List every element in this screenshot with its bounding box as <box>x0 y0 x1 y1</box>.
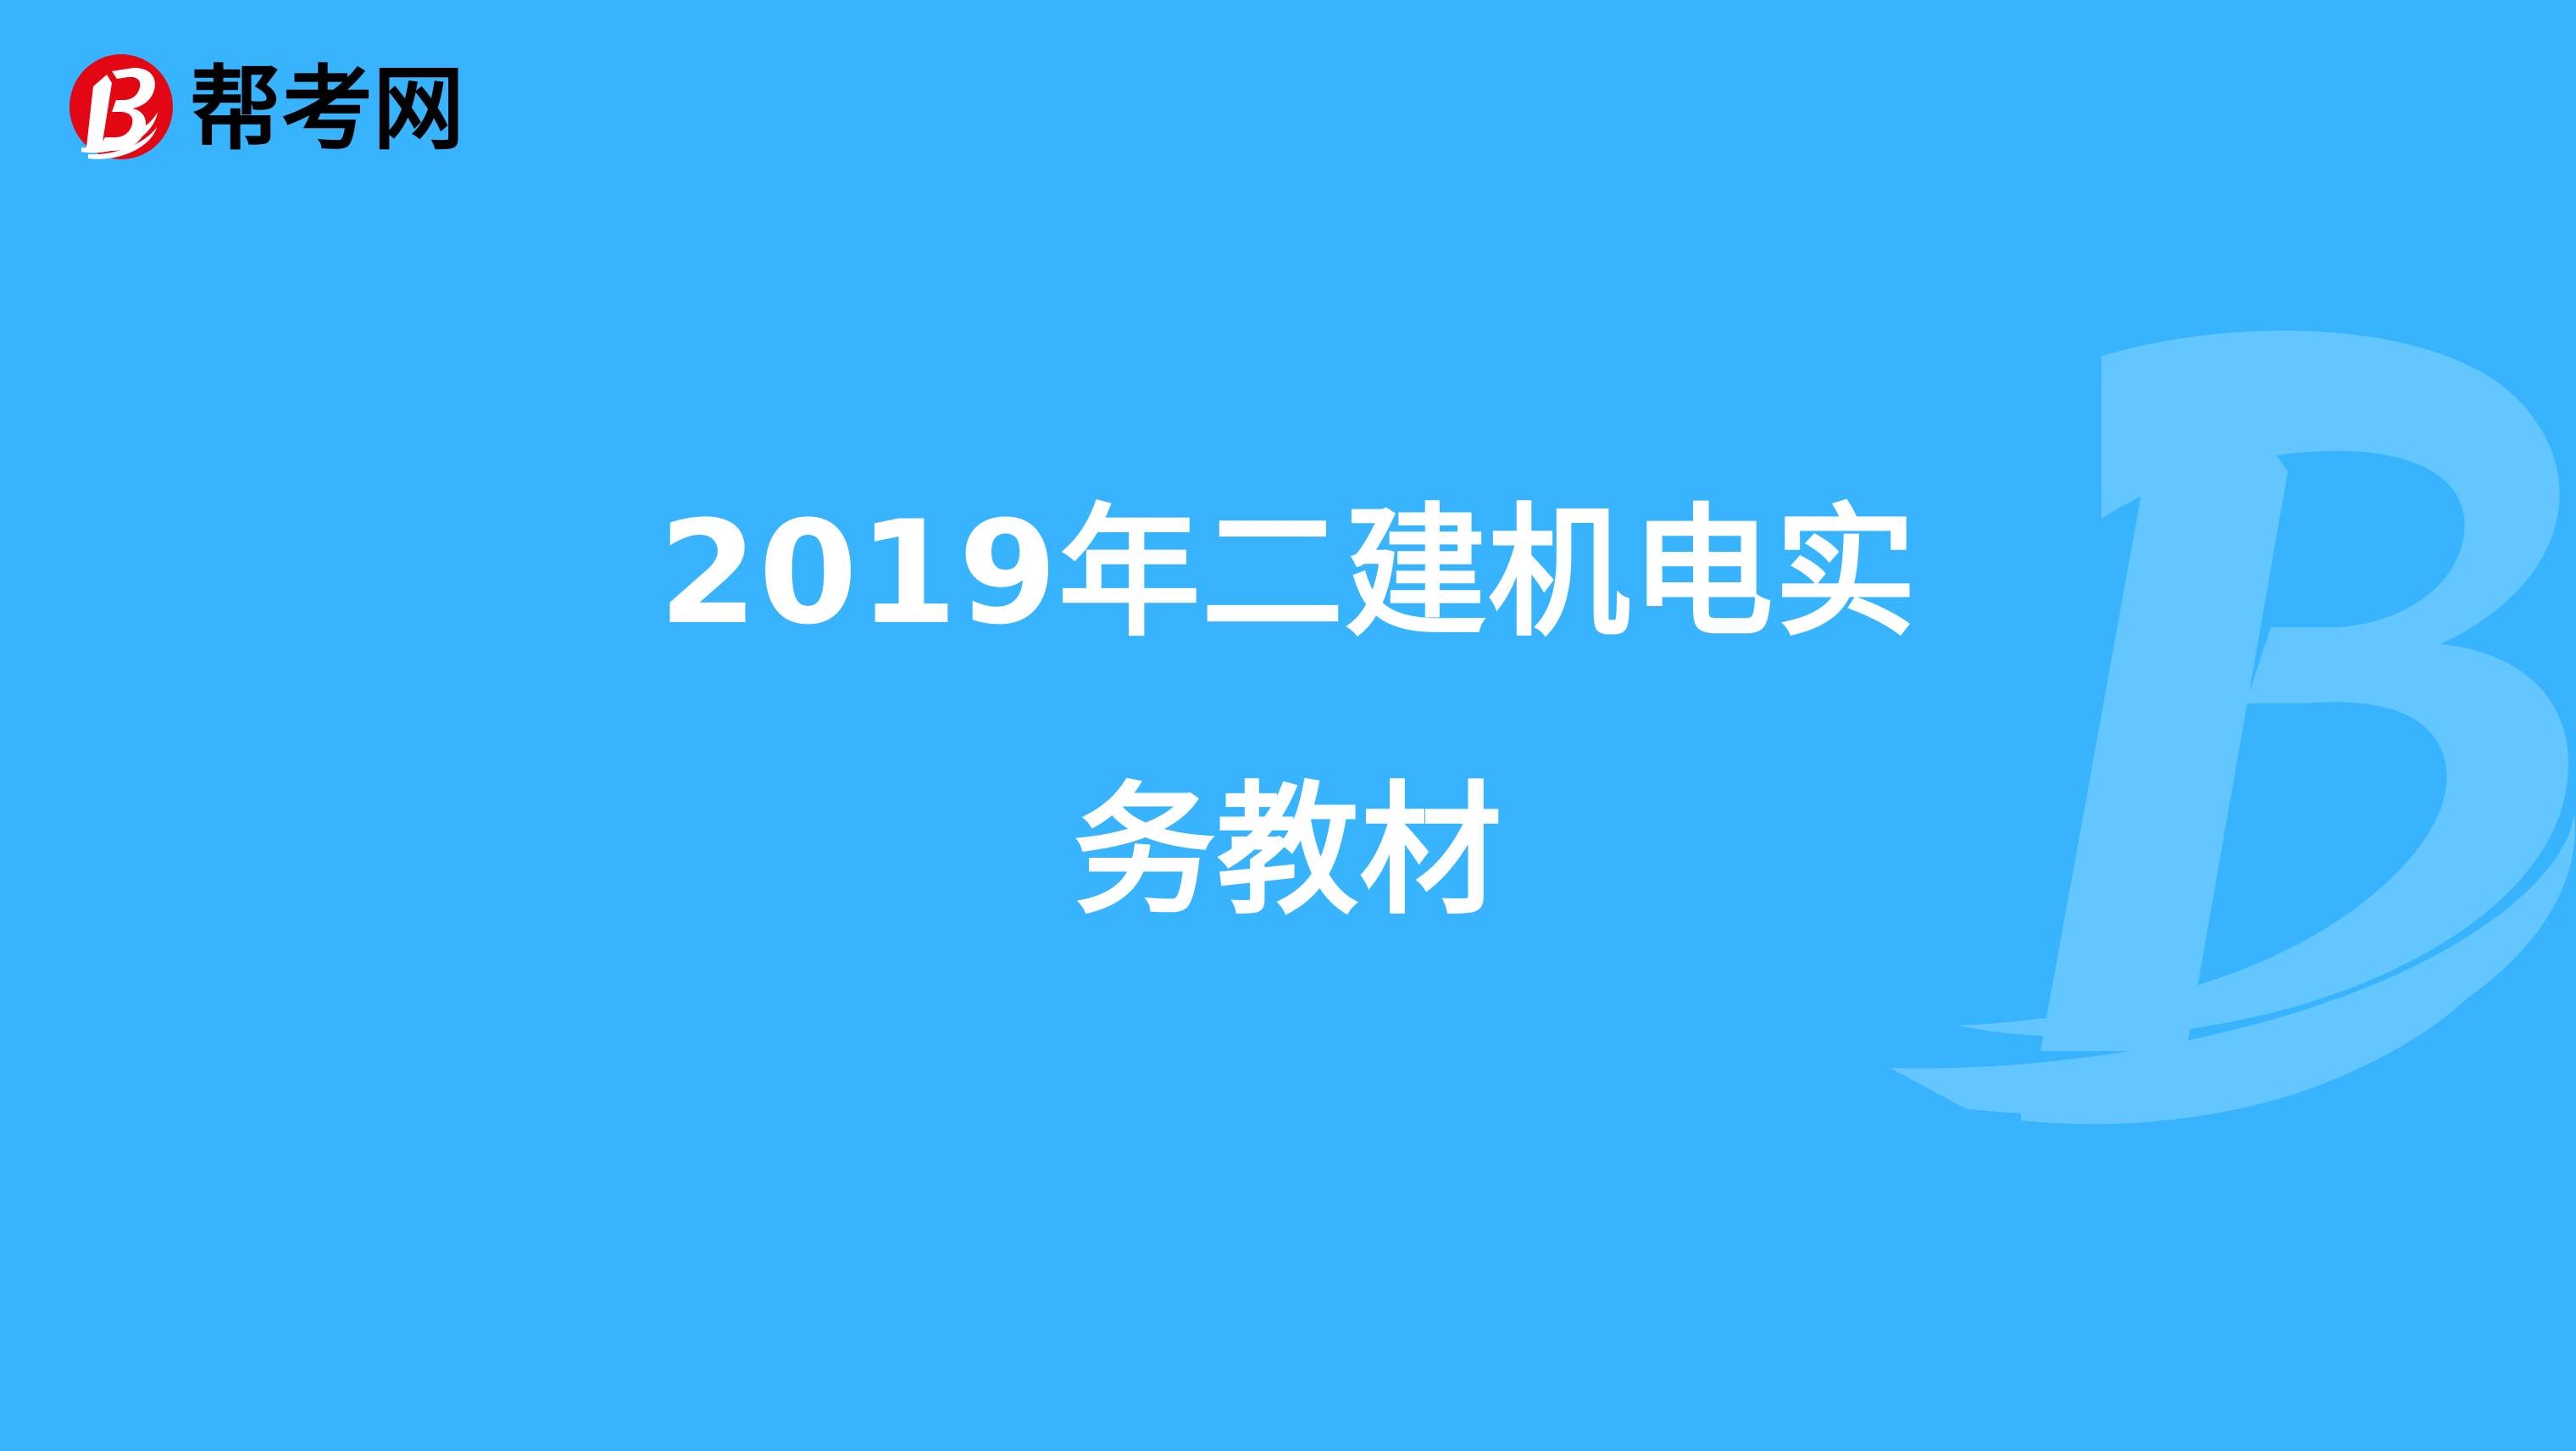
page-title-line-2: 务教材 <box>1074 713 1503 991</box>
page-title-line-1: 2019年二建机电实 <box>658 435 1918 713</box>
page-title: 2019年二建机电实 务教材 <box>0 0 2576 1451</box>
brand-logo[interactable]: 帮考网 <box>68 53 464 161</box>
brand-wordmark: 帮考网 <box>190 64 464 156</box>
slide-canvas: 帮考网 2019年二建机电实 务教材 <box>0 0 2576 1451</box>
bangkao-b-icon <box>68 53 175 161</box>
